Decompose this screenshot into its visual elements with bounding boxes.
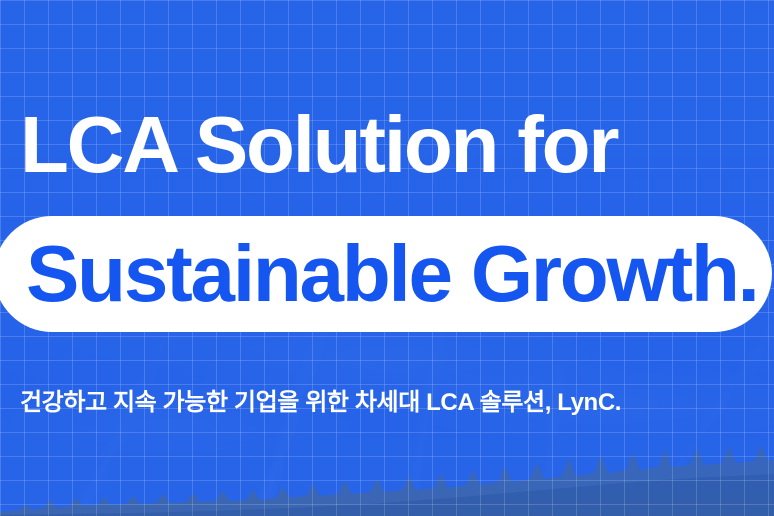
headline-line-2: Sustainable Growth. bbox=[26, 234, 758, 314]
hero-content: LCA Solution for Sustainable Growth. 건강하… bbox=[0, 0, 774, 516]
hero-banner: LCA Solution for Sustainable Growth. 건강하… bbox=[0, 0, 774, 516]
headline-line-1: LCA Solution for bbox=[20, 105, 617, 185]
hero-subtitle: 건강하고 지속 가능한 기업을 위한 차세대 LCA 솔루션, LynC. bbox=[20, 388, 621, 418]
